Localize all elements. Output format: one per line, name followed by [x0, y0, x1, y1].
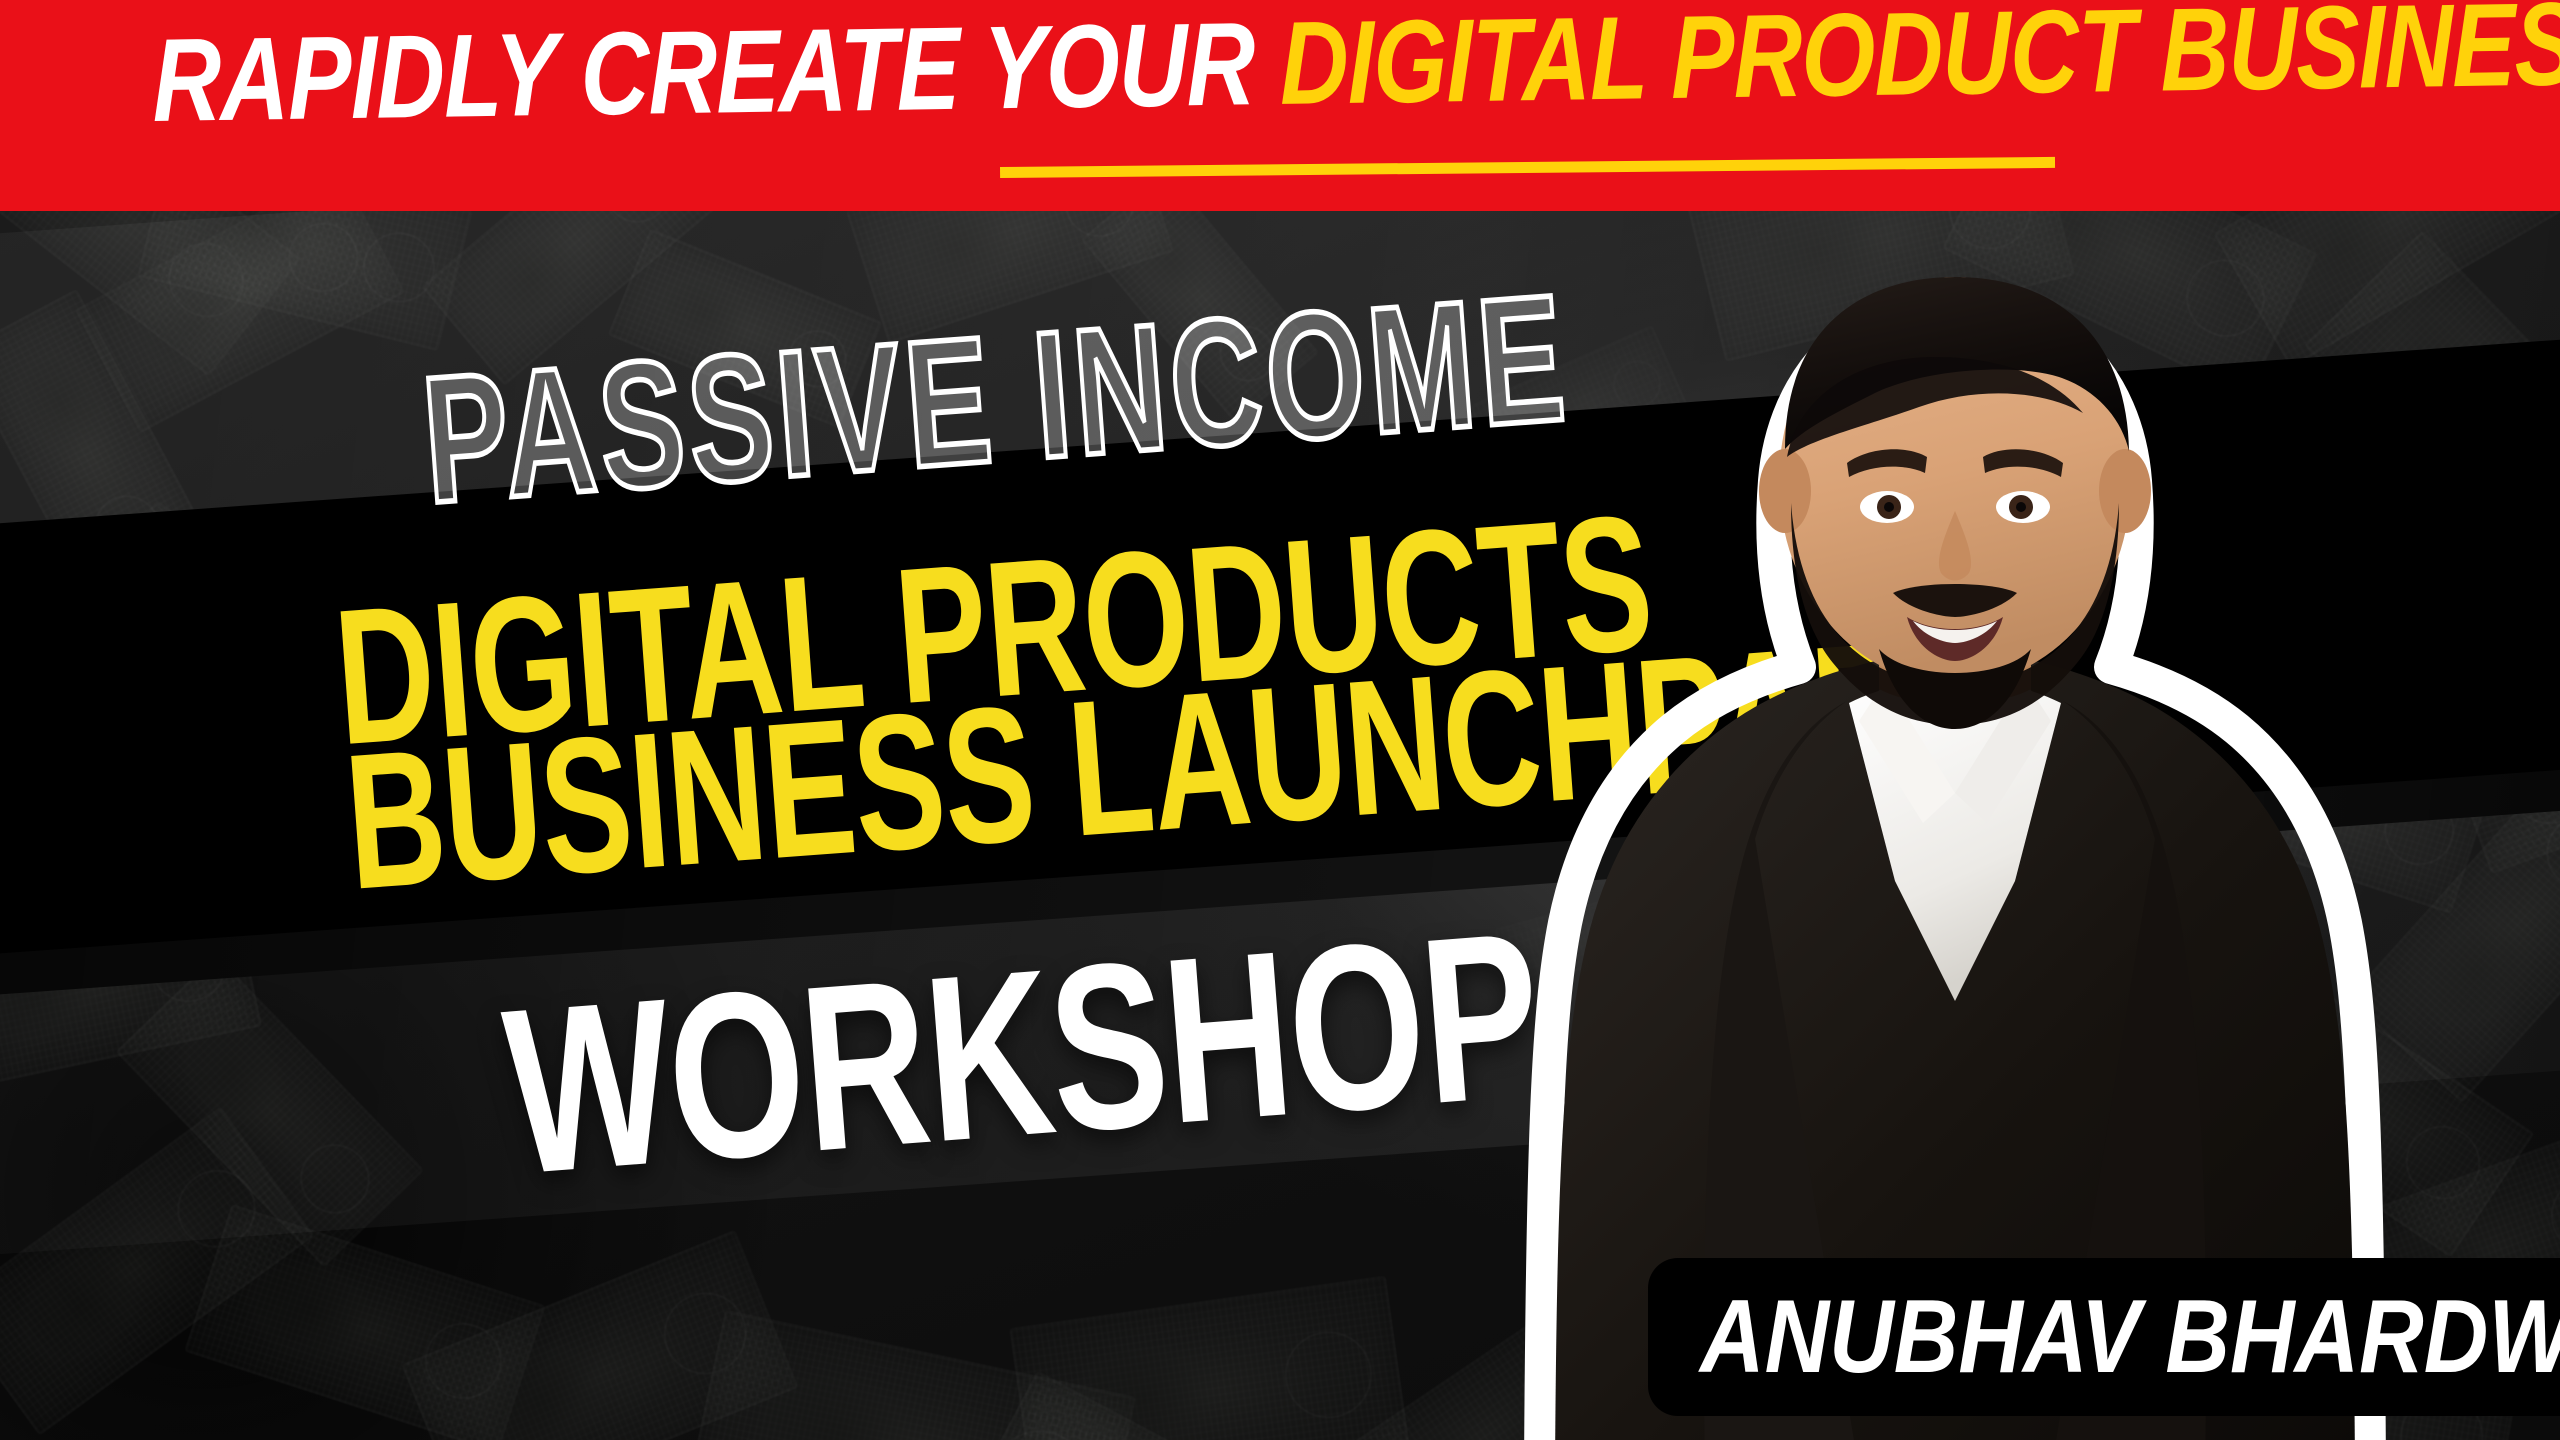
- presenter-cutout-illustration: [1455, 211, 2455, 1440]
- poster-stage: PASSIVE INCOME DIGITAL PRODUCTS BUSINESS…: [0, 211, 2560, 1440]
- presenter-name-text: ANUBHAV BHARDWAJ: [1700, 1278, 2560, 1397]
- presenter-name-badge: ANUBHAV BHARDWAJ: [1648, 1258, 2560, 1416]
- promo-headline-prefix: RAPIDLY CREATE YOUR: [152, 0, 1281, 147]
- promo-headline-highlight: DIGITAL PRODUCT BUSINESS: [1279, 0, 2560, 130]
- promo-banner-headline: RAPIDLY CREATE YOUR DIGITAL PRODUCT BUSI…: [152, 0, 2005, 140]
- presenter-photo: [1455, 211, 2455, 1440]
- promo-highlight-underline: [1000, 157, 2055, 178]
- thumbnail-poster: RAPIDLY CREATE YOUR DIGITAL PRODUCT BUSI…: [0, 0, 2560, 1440]
- top-promo-banner: RAPIDLY CREATE YOUR DIGITAL PRODUCT BUSI…: [0, 0, 2560, 211]
